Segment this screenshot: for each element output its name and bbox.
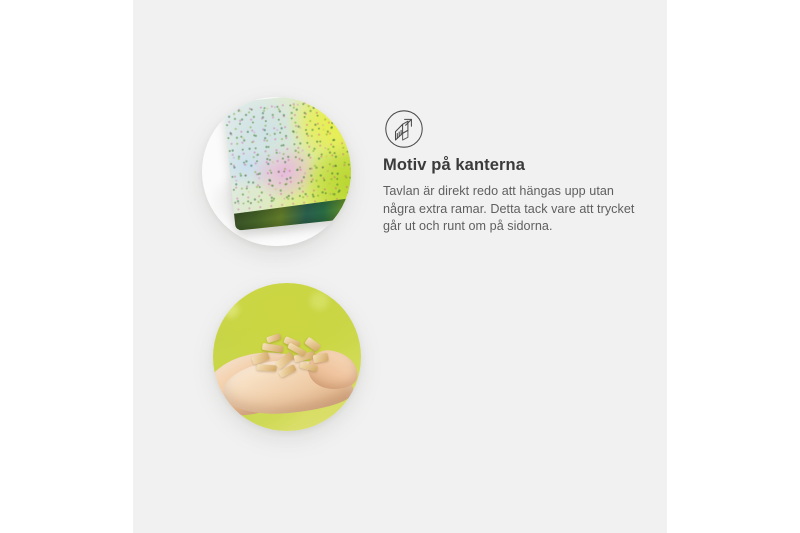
feature-image-wood-chips: [213, 283, 361, 431]
product-feature-banner: Motiv på kanterna Tavlan är direkt redo …: [0, 0, 800, 533]
canvas-photo-scene: [202, 97, 351, 246]
feature-block-motiv-pa-kanterna: Motiv på kanterna Tavlan är direkt redo …: [133, 0, 667, 266]
feature-title: Motiv på kanterna: [383, 155, 637, 176]
content-panel: Motiv på kanterna Tavlan är direkt redo …: [133, 0, 667, 533]
grass-background: [213, 283, 361, 431]
canvas-corner: [223, 97, 351, 231]
canvas-wrap-edge-icon: [384, 109, 424, 149]
wood-chip-pile: [247, 329, 336, 385]
feature-block-ekologisk-produkt: Ekologisk produkt Vi använder endast mat…: [133, 266, 667, 533]
left-gutter: [0, 0, 133, 533]
feature-description: Tavlan är direkt redo att hängas upp uta…: [383, 183, 637, 237]
right-gutter: [667, 0, 800, 533]
feature-image-canvas-edge: [202, 97, 351, 246]
feature-text-motiv-pa-kanterna: Motiv på kanterna Tavlan är direkt redo …: [383, 155, 637, 236]
